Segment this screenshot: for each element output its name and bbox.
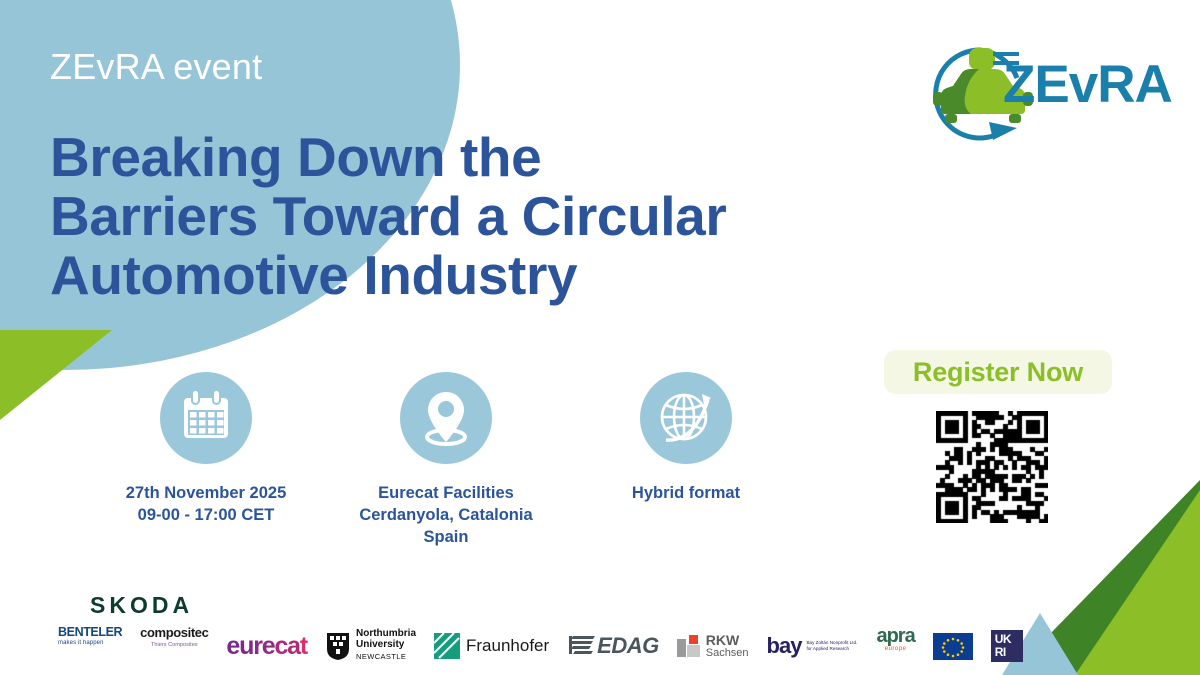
event-poster: ZEvRA event Breaking Down the Barriers T… <box>0 0 1200 675</box>
partner-logo-strip: BENTELER makes it happen compositec Thie… <box>58 622 1058 670</box>
logo-bay: bay Bay Zoltán Nonprofit Ltd. for Applie… <box>767 625 859 667</box>
logo-compositec-tagline: Thiers Composites <box>151 642 198 648</box>
event-eyebrow: ZEvRA event <box>50 46 262 88</box>
logo-northumbria-line3: NEWCASTLE <box>356 652 416 663</box>
logo-benteler-name: BENTELER <box>58 625 122 639</box>
calendar-icon <box>160 372 252 464</box>
logo-compositec-name: compositec <box>140 625 208 640</box>
logo-edag-name: EDAG <box>597 633 659 659</box>
logo-northumbria: Northumbria University NEWCASTLE <box>325 625 416 667</box>
logo-compositec: compositec Thiers Composites <box>140 625 208 667</box>
rkw-mark-icon <box>677 633 701 659</box>
detail-date: 27th November 2025 09-00 - 17:00 CET <box>86 372 326 548</box>
location-pin-icon <box>400 372 492 464</box>
logo-benteler: BENTELER makes it happen <box>58 625 122 667</box>
logo-apra-sub: europe <box>885 646 907 652</box>
logo-fraunhofer-name: Fraunhofer <box>466 636 549 656</box>
logo-northumbria-line2: University <box>356 640 416 651</box>
globe-icon <box>640 372 732 464</box>
logo-skoda: SKODA <box>90 592 193 619</box>
logo-rkw-name: RKW <box>706 633 749 647</box>
register-now-label: Register Now <box>913 357 1083 388</box>
logo-bay-name: bay <box>767 633 802 659</box>
fraunhofer-mark-icon <box>434 633 460 659</box>
logo-edag: EDAG <box>567 625 659 667</box>
logo-apra-name: apra <box>876 625 914 648</box>
detail-location-line-1: Eurecat Facilities <box>326 482 566 504</box>
logo-eurecat: eurecat <box>226 625 307 667</box>
detail-date-line-1: 27th November 2025 <box>86 482 326 504</box>
detail-location-line-2: Cerdanyola, Catalonia <box>326 504 566 526</box>
logo-bay-sub: Bay Zoltán Nonprofit Ltd. for Applied Re… <box>806 640 858 651</box>
title-line-3: Automotive Industry <box>50 246 910 305</box>
logo-ukri: UK RI <box>991 625 1023 667</box>
logo-rkw-sub: Sachsen <box>706 647 749 660</box>
detail-date-label: 27th November 2025 09-00 - 17:00 CET <box>86 482 326 526</box>
detail-location-label: Eurecat Facilities Cerdanyola, Catalonia… <box>326 482 566 548</box>
ukri-mark-icon: UK RI <box>991 630 1023 662</box>
zevra-wordmark: ZEvRA <box>1003 54 1172 115</box>
title-line-2: Barriers Toward a Circular <box>50 187 910 246</box>
logo-european-union <box>933 625 973 667</box>
logo-ukri-line2: RI <box>995 646 1023 659</box>
logo-apra: apra europe <box>876 625 914 667</box>
logo-eurecat-name: eurecat <box>226 632 307 661</box>
detail-format: Hybrid format <box>566 372 806 548</box>
detail-date-line-2: 09-00 - 17:00 CET <box>86 504 326 526</box>
logo-rkw: RKW Sachsen <box>677 625 749 667</box>
qr-code[interactable] <box>936 411 1048 523</box>
logo-benteler-tagline: makes it happen <box>58 640 104 646</box>
corner-light-green-triangle <box>1075 490 1200 675</box>
logo-fraunhofer: Fraunhofer <box>434 625 549 667</box>
page-title: Breaking Down the Barriers Toward a Circ… <box>50 128 910 305</box>
northumbria-crest-icon <box>325 631 351 661</box>
title-line-1: Breaking Down the <box>50 128 910 187</box>
detail-format-line-1: Hybrid format <box>566 482 806 504</box>
eu-flag-icon <box>933 633 973 660</box>
register-now-button[interactable]: Register Now <box>884 350 1112 394</box>
zevra-logo: ZEvRA <box>905 28 1160 148</box>
edag-mark-icon <box>567 633 597 659</box>
event-details-row: 27th November 2025 09-00 - 17:00 CET Eur… <box>86 372 806 548</box>
detail-location-line-3: Spain <box>326 526 566 548</box>
detail-location: Eurecat Facilities Cerdanyola, Catalonia… <box>326 372 566 548</box>
detail-format-label: Hybrid format <box>566 482 806 504</box>
